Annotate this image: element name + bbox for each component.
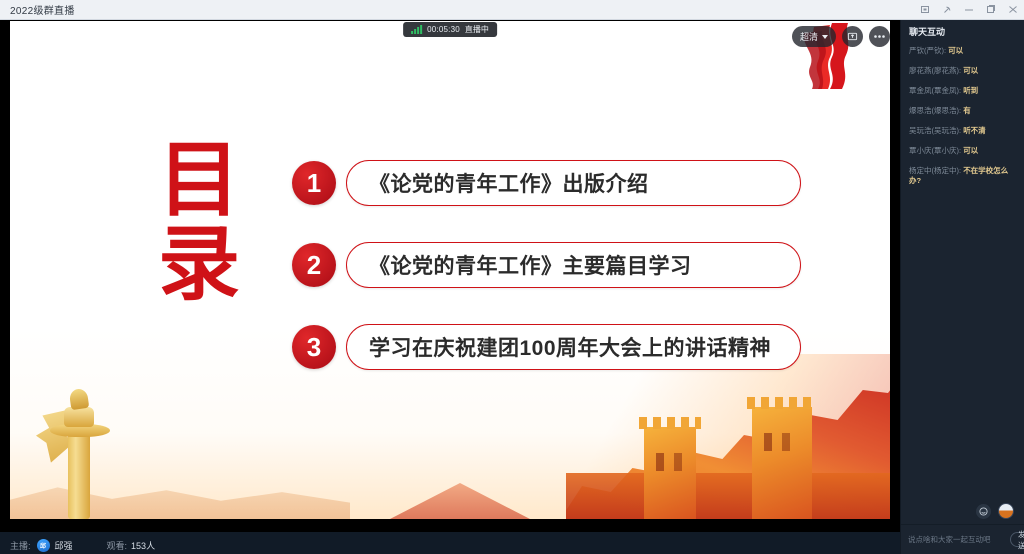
live-status-pill: 00:05:30 直播中: [403, 22, 497, 37]
chat-message: 覃小庆(覃小庆): 可以: [909, 146, 1016, 156]
host-name: 邱强: [55, 539, 73, 552]
chat-message-user: 爆思浩(爆思浩):: [909, 106, 961, 115]
chat-message: 廖花燕(廖花燕): 可以: [909, 66, 1016, 76]
chat-message-user: 吴玩浩(吴玩浩):: [909, 126, 961, 135]
chat-message-text: 有: [963, 106, 971, 115]
chat-message-text: 可以: [948, 46, 963, 55]
toc-item-label: 《论党的青年工作》主要篇目学习: [369, 250, 692, 280]
slide-toc-list: 1 《论党的青年工作》出版介绍 2 《论党的青年工作》主要篇目学习: [292, 157, 801, 403]
emoji-icon: [979, 507, 988, 516]
emoji-button[interactable]: [976, 504, 991, 519]
minimize-icon[interactable]: [958, 0, 980, 20]
chat-message: 覃金凤(覃金凤): 听到: [909, 86, 1016, 96]
chat-message-user: 覃小庆(覃小庆):: [909, 146, 961, 155]
toc-item-pill: 《论党的青年工作》出版介绍: [346, 160, 801, 206]
window-title: 2022级群直播: [10, 2, 75, 17]
quality-label: 超清: [800, 30, 818, 43]
avatar[interactable]: 邱: [37, 539, 50, 552]
host-label: 主播:: [10, 539, 31, 552]
chat-panel-title: 聊天互动: [901, 20, 1024, 40]
chat-message-text: 听不清: [963, 126, 986, 135]
toc-item-label: 《论党的青年工作》出版介绍: [369, 168, 649, 198]
slide-content: 目录 1 《论党的青年工作》出版介绍 2 《论党的青年工作》主要篇目学习: [10, 21, 890, 519]
presentation-slide: 目录 1 《论党的青年工作》出版介绍 2 《论党的青年工作》主要篇目学习: [10, 21, 890, 519]
more-options-button[interactable]: [869, 26, 890, 47]
chat-message-user: 严钦(严钦):: [909, 46, 946, 55]
toc-item-label: 学习在庆祝建团100周年大会上的讲话精神: [369, 332, 771, 362]
close-icon[interactable]: [1002, 0, 1024, 20]
live-status-text: 直播中: [465, 24, 489, 35]
toc-item: 3 学习在庆祝建团100周年大会上的讲话精神: [292, 321, 801, 373]
window-titlebar: 2022级群直播: [0, 0, 1024, 20]
chat-panel: 聊天互动 严钦(严钦): 可以 廖花燕(廖花燕): 可以 覃金凤(覃金凤): 听…: [900, 20, 1024, 554]
viewers-label: 观看:: [107, 539, 128, 552]
chat-message-user: 覃金凤(覃金凤):: [909, 86, 961, 95]
share-screen-button[interactable]: [842, 26, 863, 47]
chat-message: 杨定中(杨定中): 不在学校怎么办?: [909, 166, 1016, 186]
toc-item-pill: 学习在庆祝建团100周年大会上的讲话精神: [346, 324, 801, 370]
restore-small-icon[interactable]: [914, 0, 936, 20]
chevron-down-icon: [822, 35, 828, 39]
maximize-icon[interactable]: [980, 0, 1002, 20]
toc-item-number: 1: [292, 161, 336, 205]
toc-item-number: 3: [292, 325, 336, 369]
toc-item: 1 《论党的青年工作》出版介绍: [292, 157, 801, 209]
signal-bars-icon: [411, 26, 422, 34]
share-screen-icon: [847, 31, 858, 42]
slide-heading: 目录: [135, 139, 265, 307]
pin-icon[interactable]: [936, 0, 958, 20]
toc-item-pill: 《论党的青年工作》主要篇目学习: [346, 242, 801, 288]
chat-tool-row: [901, 498, 1024, 524]
live-streaming-window: 2022级群直播: [0, 0, 1024, 554]
chat-message-text: 可以: [963, 146, 978, 155]
toc-item-number: 2: [292, 243, 336, 287]
chat-message-text: 可以: [963, 66, 978, 75]
window-controls: [914, 0, 1024, 20]
more-options-icon: [873, 34, 886, 39]
chat-message-user: 廖花燕(廖花燕):: [909, 66, 961, 75]
video-stage[interactable]: 目录 1 《论党的青年工作》出版介绍 2 《论党的青年工作》主要篇目学习: [0, 20, 900, 532]
host-row: 主播: 邱 邱强 观看: 153人: [10, 537, 890, 553]
stream-info-bar: 主播: 邱 邱强 观看: 153人 标题: 主题教育专题学习: [0, 532, 900, 554]
chat-message-text: 听到: [963, 86, 978, 95]
chat-message: 严钦(严钦): 可以: [909, 46, 1016, 56]
chat-message: 吴玩浩(吴玩浩): 听不清: [909, 126, 1016, 136]
user-avatar-icon[interactable]: [998, 503, 1014, 519]
quality-selector[interactable]: 超清: [792, 26, 836, 47]
chat-input-row: 发送: [901, 524, 1024, 554]
toc-item: 2 《论党的青年工作》主要篇目学习: [292, 239, 801, 291]
chat-message: 爆思浩(爆思浩): 有: [909, 106, 1016, 116]
live-timer: 00:05:30: [427, 25, 460, 34]
viewers-count: 153人: [131, 539, 155, 552]
window-body: 目录 1 《论党的青年工作》出版介绍 2 《论党的青年工作》主要篇目学习: [0, 20, 1024, 554]
chat-input[interactable]: [908, 531, 1005, 548]
stage-controls: 超清: [792, 26, 890, 47]
chat-message-user: 杨定中(杨定中):: [909, 166, 961, 175]
send-button[interactable]: 发送: [1010, 532, 1024, 547]
chat-message-list[interactable]: 严钦(严钦): 可以 廖花燕(廖花燕): 可以 覃金凤(覃金凤): 听到 爆思浩…: [901, 40, 1024, 498]
